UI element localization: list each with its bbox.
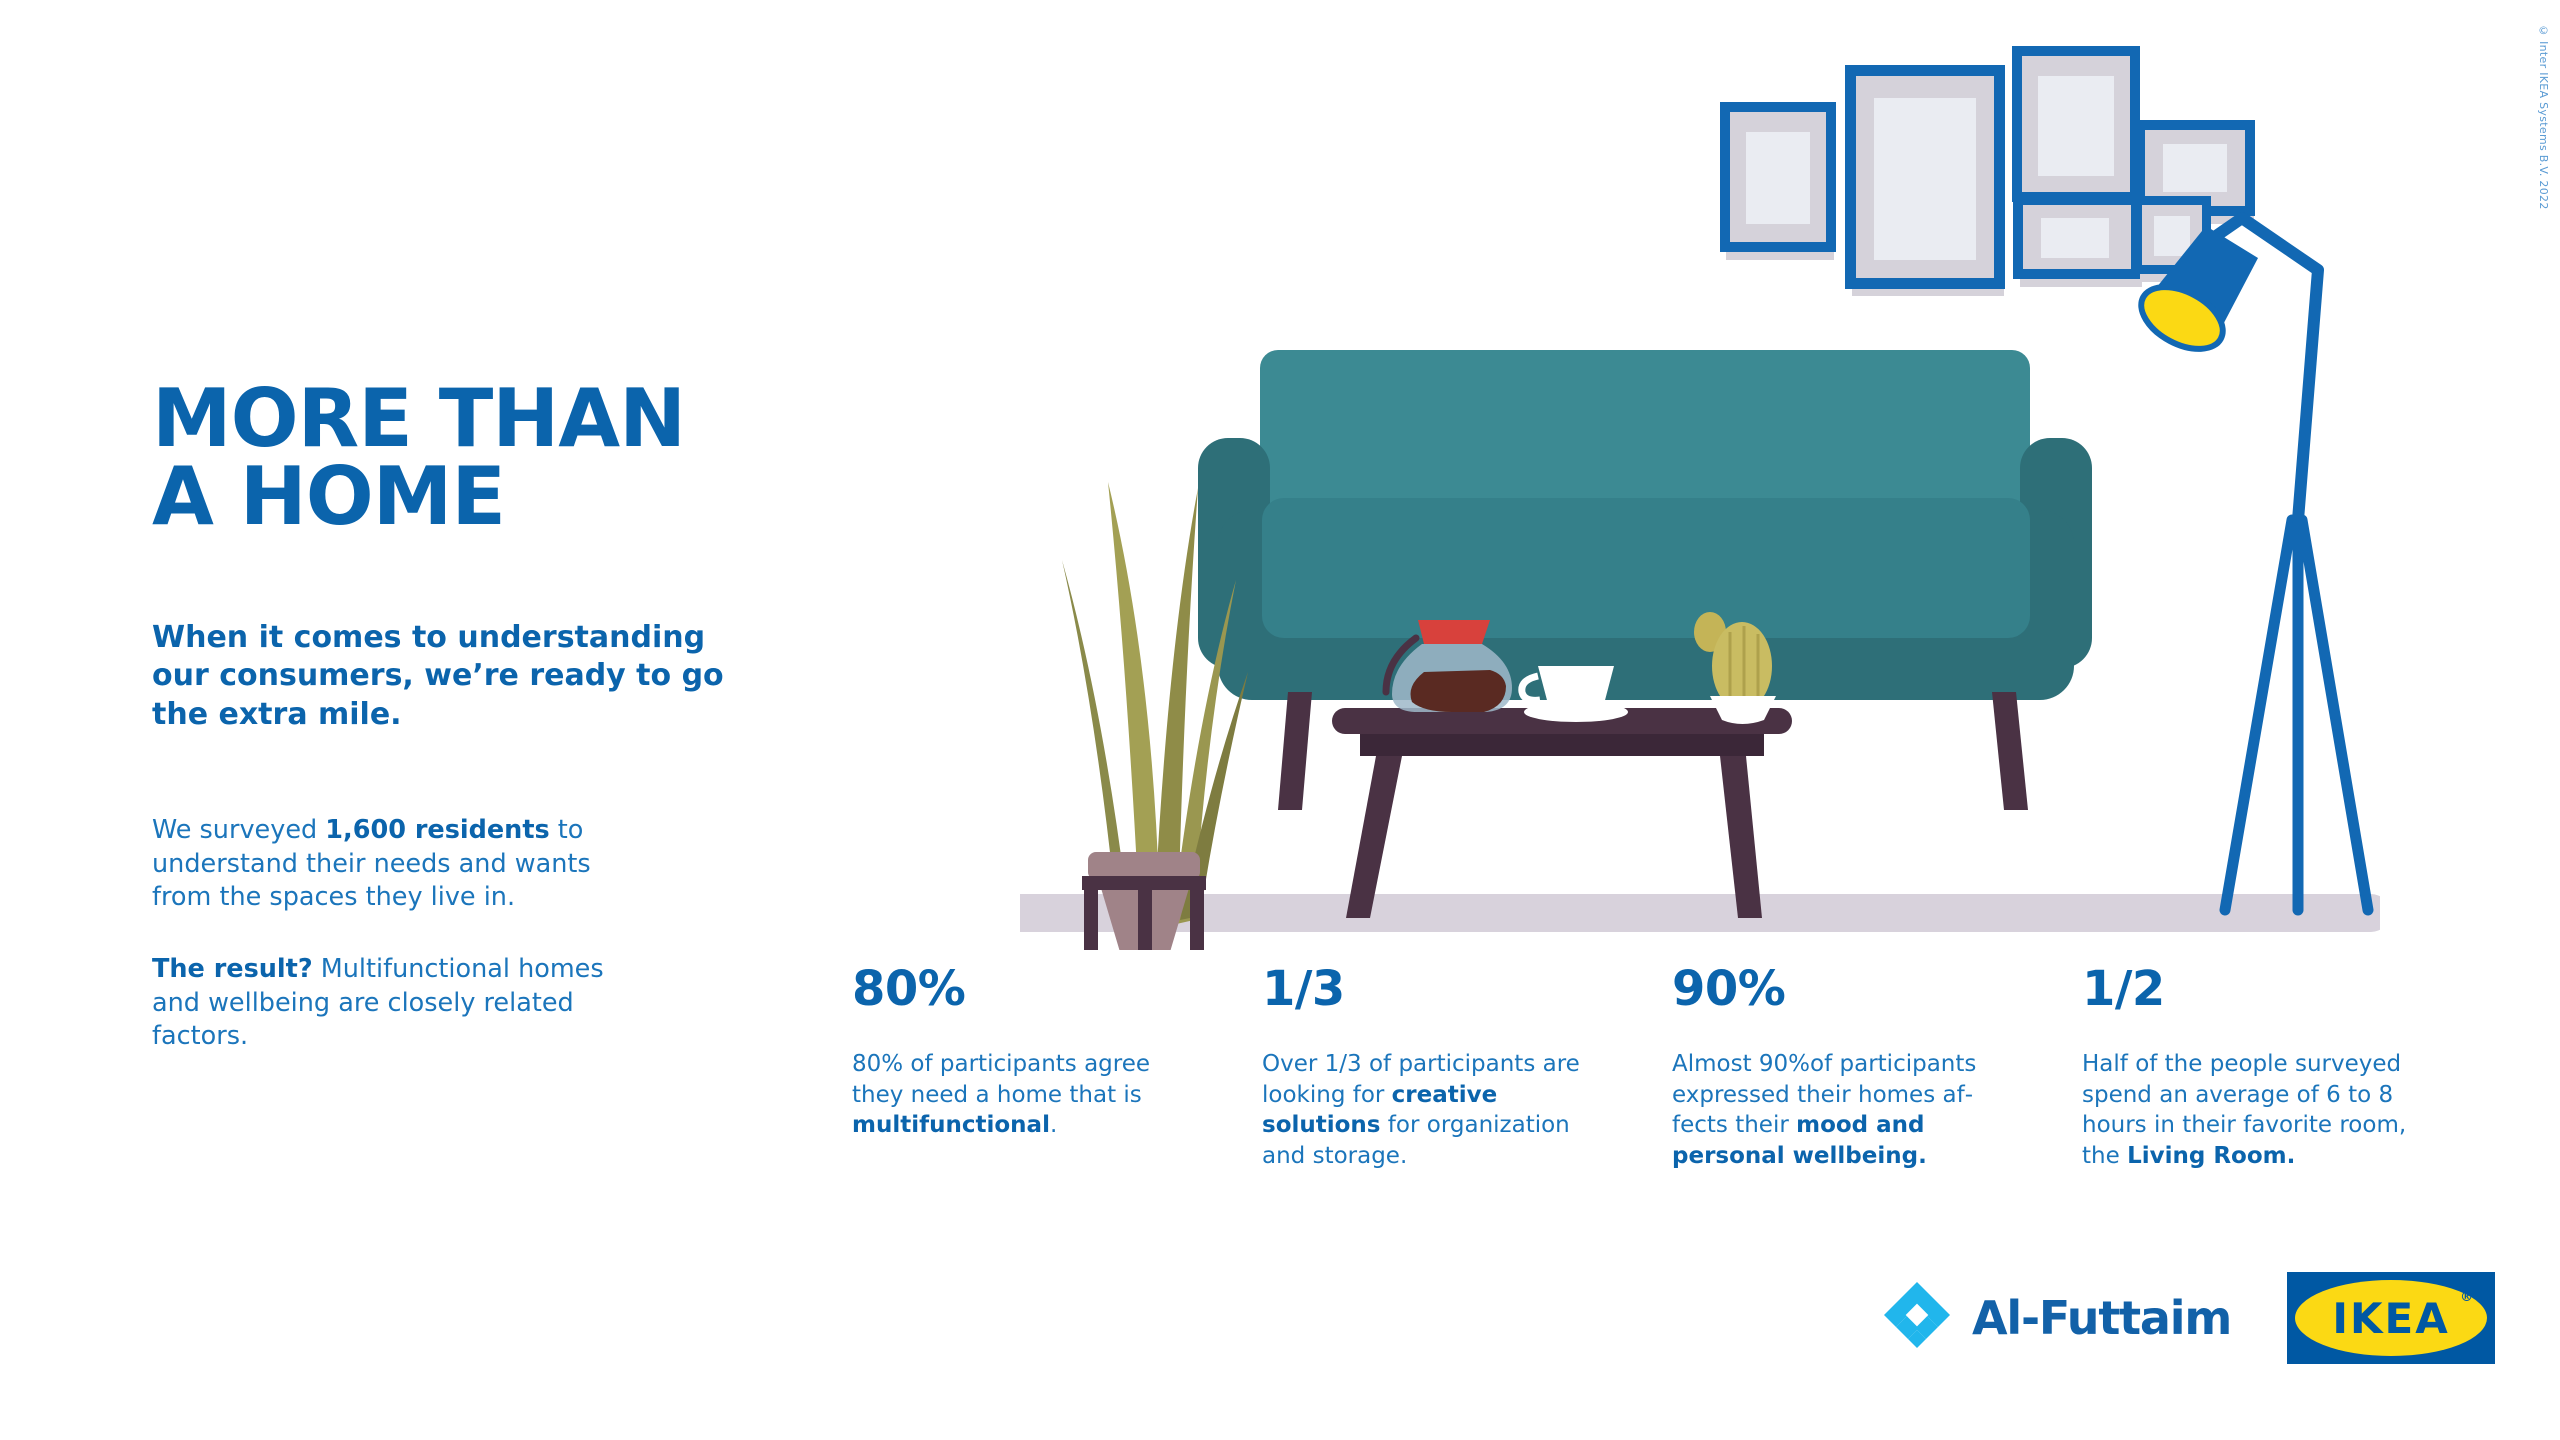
stat-description: 80% of participants agree they need a ho… — [852, 1049, 1192, 1141]
table-leg-right — [1720, 756, 1762, 918]
lamp-leg-left — [2225, 520, 2292, 910]
survey-paragraph: We surveyed 1,600 residents to understan… — [152, 814, 602, 915]
sofa-leg-left — [1278, 692, 1312, 810]
picture-frame-3 — [2012, 46, 2140, 202]
stat-description: Almost 90%of participants expressed thei… — [1672, 1049, 2012, 1171]
al-futtaim-wordmark: Al-Futtaim — [1972, 1291, 2231, 1345]
floor-lamp — [2131, 218, 2368, 910]
stat-text-before: 80% of participants agree they need a ho… — [852, 1051, 1150, 1108]
stat-description: Half of the people surveyed spend an ave… — [2082, 1049, 2422, 1171]
stat-text-after: . — [1050, 1112, 1057, 1138]
lamp-leg-right — [2302, 520, 2368, 910]
cup-body — [1538, 666, 1614, 708]
logo-bar: Al-Futtaim IKEA ® — [1880, 1272, 2495, 1364]
sofa-leg-right — [1992, 692, 2028, 810]
coffee-table — [1332, 708, 1792, 918]
stat-value: 90% — [1672, 965, 2040, 1013]
ikea-logo: IKEA ® — [2287, 1272, 2495, 1364]
survey-text-before: We surveyed — [152, 815, 325, 845]
plant-pot-rim — [1088, 852, 1200, 880]
table-apron — [1360, 734, 1764, 756]
ikea-wordmark: IKEA — [2332, 1294, 2449, 1343]
page-title: MORE THAN A HOME — [152, 380, 752, 537]
living-room-illustration — [1020, 20, 2380, 950]
stat-description: Over 1/3 of participants are looking for… — [1262, 1049, 1602, 1171]
statistics-row: 80% 80% of participants agree they need … — [852, 965, 2492, 1171]
infographic-page: © Inter IKEA Systems B.V. 2022 MORE THAN… — [0, 0, 2560, 1440]
coffee-pot-lid — [1418, 620, 1490, 644]
floor-bar — [1020, 894, 2380, 932]
result-paragraph: The result? Multifunctional homes and we… — [152, 953, 612, 1054]
stat-text-highlight: multifunctional — [852, 1112, 1050, 1138]
stat-card: 1/3 Over 1/3 of participants are looking… — [1262, 965, 1672, 1171]
sofa-cushion — [1262, 498, 2030, 638]
picture-frame-5 — [2013, 195, 2141, 279]
copyright-notice: © Inter IKEA Systems B.V. 2022 — [2537, 24, 2550, 210]
result-highlight: The result? — [152, 954, 313, 984]
stat-value: 1/3 — [1262, 965, 1630, 1013]
picture-frame-1 — [1720, 102, 1836, 252]
picture-frame-2 — [1845, 65, 2005, 289]
lead-statement: When it comes to understanding our consu… — [152, 619, 732, 734]
al-futtaim-logo: Al-Futtaim — [1880, 1280, 2231, 1356]
plant-stand-leg-center — [1138, 882, 1152, 950]
stat-card: 90% Almost 90%of participants expressed … — [1672, 965, 2082, 1171]
stat-value: 80% — [852, 965, 1220, 1013]
stat-text-highlight: Living Room. — [2127, 1143, 2295, 1169]
stat-card: 80% 80% of participants agree they need … — [852, 965, 1262, 1171]
stat-card: 1/2 Half of the people surveyed spend an… — [2082, 965, 2492, 1171]
survey-highlight: 1,600 residents — [325, 815, 549, 845]
ikea-registered-icon: ® — [2460, 1290, 2473, 1305]
al-futtaim-diamond-icon — [1880, 1280, 1954, 1356]
left-text-column: MORE THAN A HOME When it comes to unders… — [152, 380, 752, 1054]
plant-stand-leg-left — [1084, 882, 1098, 950]
table-leg-left — [1346, 756, 1402, 918]
plant-stand-leg-right — [1190, 882, 1204, 950]
picture-frame-group — [1020, 46, 2255, 390]
stat-value: 1/2 — [2082, 965, 2450, 1013]
coffee-pot-liquid — [1411, 670, 1507, 712]
